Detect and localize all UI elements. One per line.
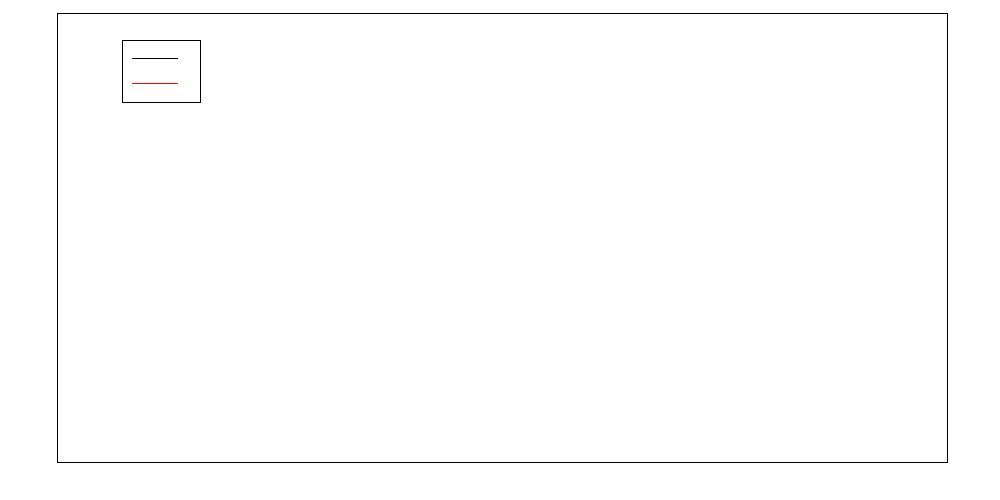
legend-item-permuted	[132, 46, 191, 71]
legend-swatch-permuted	[132, 58, 178, 59]
legend	[122, 40, 201, 103]
figure	[0, 0, 1000, 500]
legend-item-patient	[132, 71, 191, 96]
legend-swatch-patient	[132, 83, 178, 84]
plot-area	[57, 13, 948, 463]
